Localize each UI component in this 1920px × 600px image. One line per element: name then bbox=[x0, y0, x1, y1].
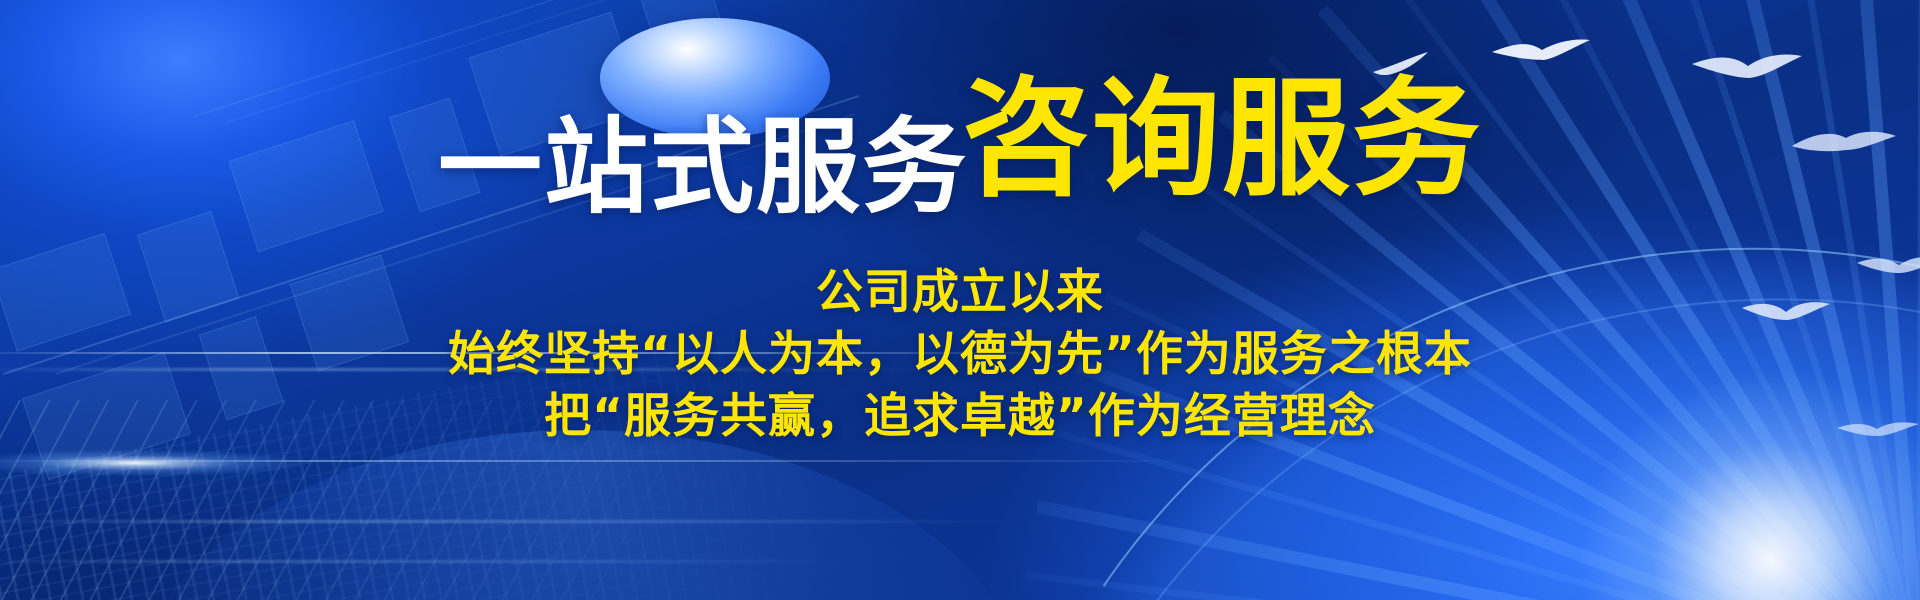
bird-icon bbox=[1690, 52, 1820, 88]
body-line-1: 公司成立以来 bbox=[0, 262, 1920, 324]
body-copy: 公司成立以来 始终坚持“以人为本，以德为先”作为服务之根本 把“服务共赢，追求卓… bbox=[0, 262, 1920, 448]
bird-icon bbox=[1490, 38, 1620, 72]
light-streak-5 bbox=[0, 560, 860, 563]
promo-banner: 一站式服务咨询服务 公司成立以来 始终坚持“以人为本，以德为先”作为服务之根本 … bbox=[0, 0, 1920, 600]
lens-flare bbox=[0, 450, 300, 476]
body-line-2: 始终坚持“以人为本，以德为先”作为服务之根本 bbox=[0, 324, 1920, 386]
body-line-3: 把“服务共赢，追求卓越”作为经营理念 bbox=[0, 386, 1920, 448]
headline-primary: 一站式服务 bbox=[438, 106, 968, 228]
headline: 一站式服务咨询服务 bbox=[0, 96, 1920, 224]
light-streak-4 bbox=[0, 520, 1020, 523]
headline-accent: 咨询服务 bbox=[962, 65, 1482, 214]
